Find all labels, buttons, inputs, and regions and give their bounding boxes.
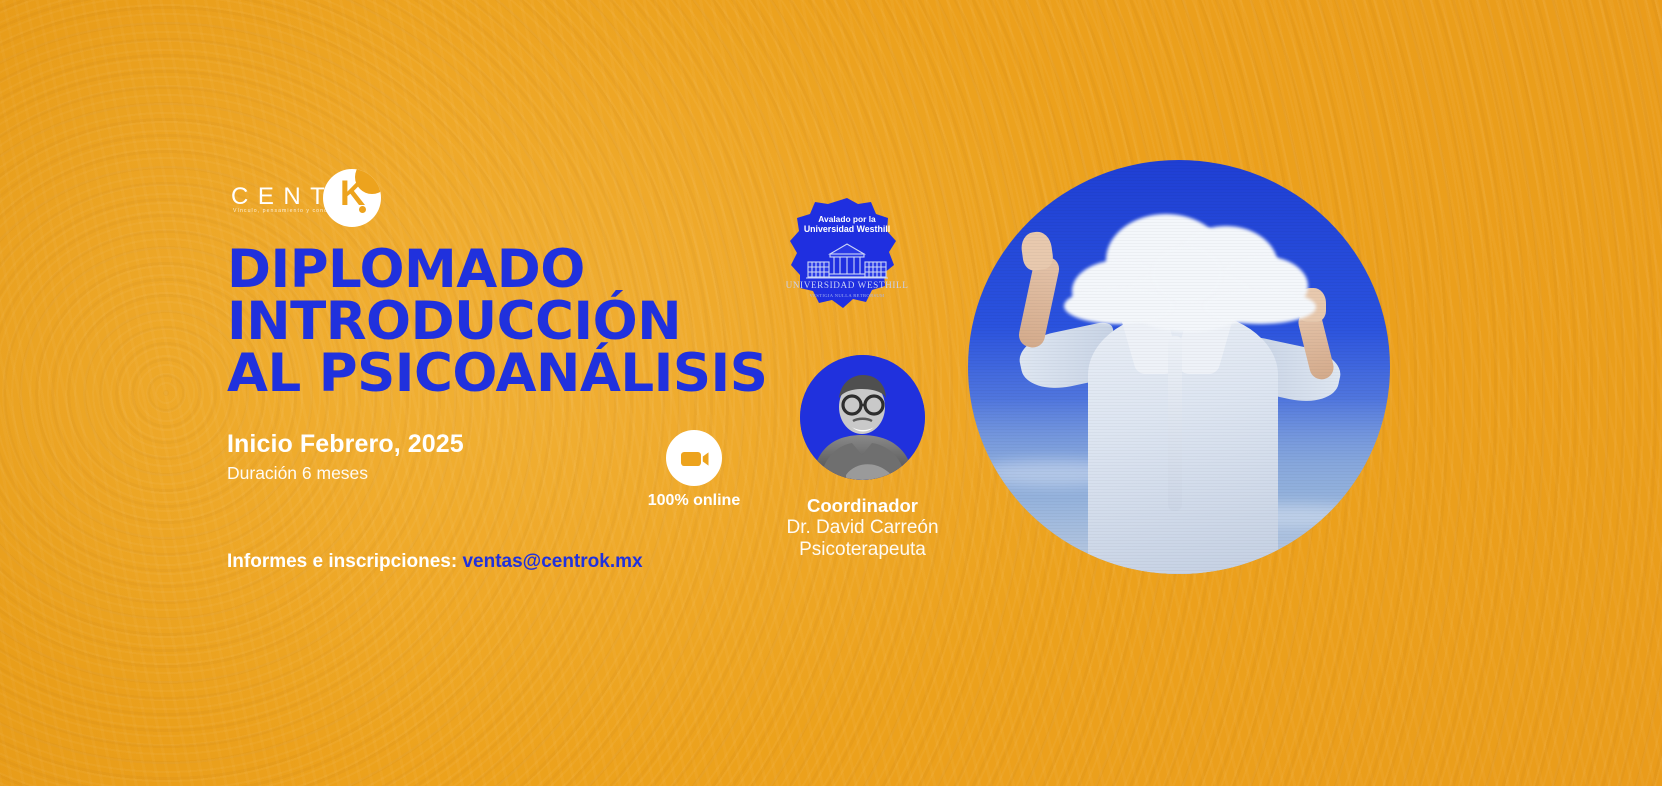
hero-cloud-head-icon xyxy=(1064,212,1314,352)
video-camera-icon xyxy=(666,430,722,486)
online-label: 100% online xyxy=(634,492,754,510)
logo-k-mark-icon: K xyxy=(323,169,381,227)
hero-shirt-placket xyxy=(1168,336,1182,511)
coordinator-name: Dr. David Carreón xyxy=(745,517,980,539)
centrok-logo[interactable]: CENTRO Vínculo, pensamiento y conocimien… xyxy=(227,168,397,230)
contact-label: Informes e inscripciones: xyxy=(227,551,457,572)
coordinator-block: Coordinador Dr. David Carreón Psicoterap… xyxy=(745,355,980,562)
coordinator-role: Coordinador xyxy=(745,495,980,517)
page-title: DIPLOMADO INTRODUCCIÓN AL PSICOANÁLISIS xyxy=(227,244,787,400)
logo-mark-dot xyxy=(359,206,366,213)
coordinator-title: Psicoterapeuta xyxy=(745,539,980,561)
seal-endorsement-line1: Avalado por la xyxy=(818,214,876,224)
hero-left-hand xyxy=(1020,230,1055,272)
online-badge: 100% online xyxy=(634,430,754,510)
seal-endorsement-line2: Universidad Westhill xyxy=(804,224,890,234)
coordinator-avatar xyxy=(800,355,925,480)
seal-university-name: UNIVERSIDAD WESTHILL xyxy=(786,280,908,290)
promo-banner: CENTRO Vínculo, pensamiento y conocimien… xyxy=(0,0,1662,786)
hero-image-cloud-head xyxy=(968,160,1390,574)
contact-line: Informes e inscripciones: ventas@centrok… xyxy=(227,551,643,573)
westhill-endorsement-seal: Avalado por la Universidad Westhill xyxy=(786,196,908,322)
seal-motto: VESTIGIA NULLA RETRORSUM xyxy=(809,293,884,298)
contact-email[interactable]: ventas@centrok.mx xyxy=(462,551,642,572)
